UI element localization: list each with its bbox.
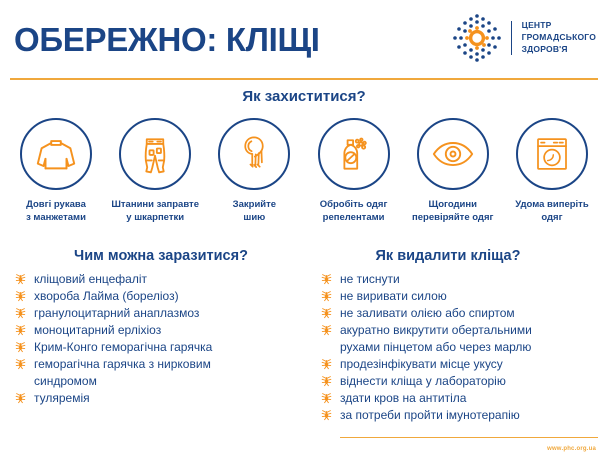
brand-line-2: ГРОМАДСЬКОГО [522,32,596,42]
list-item: кліщовий енцефаліт [14,271,314,288]
list-item: за потреби пройти імунотерапію [320,407,606,424]
tick-bullet-icon [320,272,336,288]
protect-section-heading: Як захиститися? [0,88,608,105]
tick-bullet-icon [320,408,336,424]
removal-column: Як видалити кліща? не тиснутине виривати… [320,248,606,424]
list-item: здати кров на антитіла [320,390,606,407]
list-item-label: не виривати силою [340,288,606,305]
infections-title: Чим можна заразитися? [14,248,314,264]
tick-bullet-icon [14,340,30,356]
tick-bullet-icon [14,272,30,288]
list-item: хвороба Лайма (бореліоз) [14,288,314,305]
tick-bullet-icon [320,323,336,339]
brand-logo: ЦЕНТР ГРОМАДСЬКОГО ЗДОРОВ'Я [449,10,596,66]
list-item: рухами пінцетом або через марлю [320,339,606,356]
list-item-label: моноцитарний ерліхіоз [34,322,314,339]
eye-icon [417,118,489,190]
protect-item-check: Щогодини перевіряйте одяг [405,118,501,225]
tick-bullet-icon [320,357,336,373]
tick-bullet-icon [320,289,336,305]
list-item: геморагічна гарячка з нирковим [14,356,314,373]
list-item: продезінфікувати місце укусу [320,356,606,373]
tick-bullet-icon [14,357,30,373]
list-item-label: не тиснути [340,271,606,288]
protect-item-label: Щогодини перевіряйте одяг [412,199,493,225]
list-item: не заливати олією або спиртом [320,305,606,322]
list-item-label: кліщовий енцефаліт [34,271,314,288]
tick-bullet-icon [320,391,336,407]
protect-item-repellent: Обробіть одяг репелентами [306,118,402,225]
list-item-label: за потреби пройти імунотерапію [340,407,606,424]
removal-title: Як видалити кліща? [320,248,606,264]
list-item: туляремія [14,390,314,407]
trousers-icon [119,118,191,190]
list-item-label: хвороба Лайма (бореліоз) [34,288,314,305]
tick-bullet-icon [14,323,30,339]
list-item-label: гранулоцитарний анаплазмоз [34,305,314,322]
list-item: синдромом [14,373,314,390]
list-item: Крим-Конго геморагічна гарячка [14,339,314,356]
protect-item-label: Удома виперіть одяг [515,199,588,225]
scarf-icon [218,118,290,190]
list-item-label: Крим-Конго геморагічна гарячка [34,339,314,356]
list-item: гранулоцитарний анаплазмоз [14,305,314,322]
protect-item-sweater: Довгі рукава з манжетами [8,118,104,225]
list-item: не виривати силою [320,288,606,305]
brand-name: ЦЕНТР ГРОМАДСЬКОГО ЗДОРОВ'Я [522,20,596,55]
list-item-label: здати кров на антитіла [340,390,606,407]
list-item-label: акуратно викрутити обертальними [340,322,606,339]
list-item-label: не заливати олією або спиртом [340,305,606,322]
brand-divider [511,21,512,55]
brand-line-3: ЗДОРОВ'Я [522,44,568,54]
brand-line-1: ЦЕНТР [522,20,552,30]
protect-item-label: Штанини заправте у шкарпетки [111,199,199,225]
protect-item-wash: Удома виперіть одяг [504,118,600,225]
list-item: не тиснути [320,271,606,288]
list-item: віднести кліща у лабораторію [320,373,606,390]
protect-icon-row: Довгі рукава з манжетами Штанини заправт… [8,118,600,225]
footer-website-url[interactable]: www.phc.org.ua [547,446,596,452]
tick-bullet-icon [320,306,336,322]
tick-bullet-icon [14,306,30,322]
protect-item-label: Обробіть одяг репелентами [320,199,388,225]
list-item-label: рухами пінцетом або через марлю [340,339,606,356]
washing-machine-icon [516,118,588,190]
removal-list: не тиснутине виривати силоюне заливати о… [320,271,606,424]
tick-bullet-icon [14,391,30,407]
tick-bullet-icon [14,289,30,305]
list-item-label: синдромом [34,373,314,390]
page-title: ОБЕРЕЖНО: КЛІЩІ [14,23,320,56]
infections-list: кліщовий енцефалітхвороба Лайма (бореліо… [14,271,314,407]
header-divider-rule [10,78,598,80]
list-item-label: геморагічна гарячка з нирковим [34,356,314,373]
list-item-label: продезінфікувати місце укусу [340,356,606,373]
sweater-icon [20,118,92,190]
list-item-label: туляремія [34,390,314,407]
protect-item-scarf: Закрийте шию [206,118,302,225]
list-item: моноцитарний ерліхіоз [14,322,314,339]
spray-bottle-icon [318,118,390,190]
protect-item-label: Довгі рукава з манжетами [26,199,86,225]
protect-item-trousers: Штанини заправте у шкарпетки [107,118,203,225]
phc-logo-mark [449,10,505,66]
protect-item-label: Закрийте шию [233,199,276,225]
list-item-label: віднести кліща у лабораторію [340,373,606,390]
tick-bullet-icon [320,374,336,390]
infections-column: Чим можна заразитися? кліщовий енцефаліт… [14,248,314,407]
footer-divider-rule [340,437,598,439]
infographic-poster: ОБЕРЕЖНО: КЛІЩІ [0,0,608,456]
list-item: акуратно викрутити обертальними [320,322,606,339]
